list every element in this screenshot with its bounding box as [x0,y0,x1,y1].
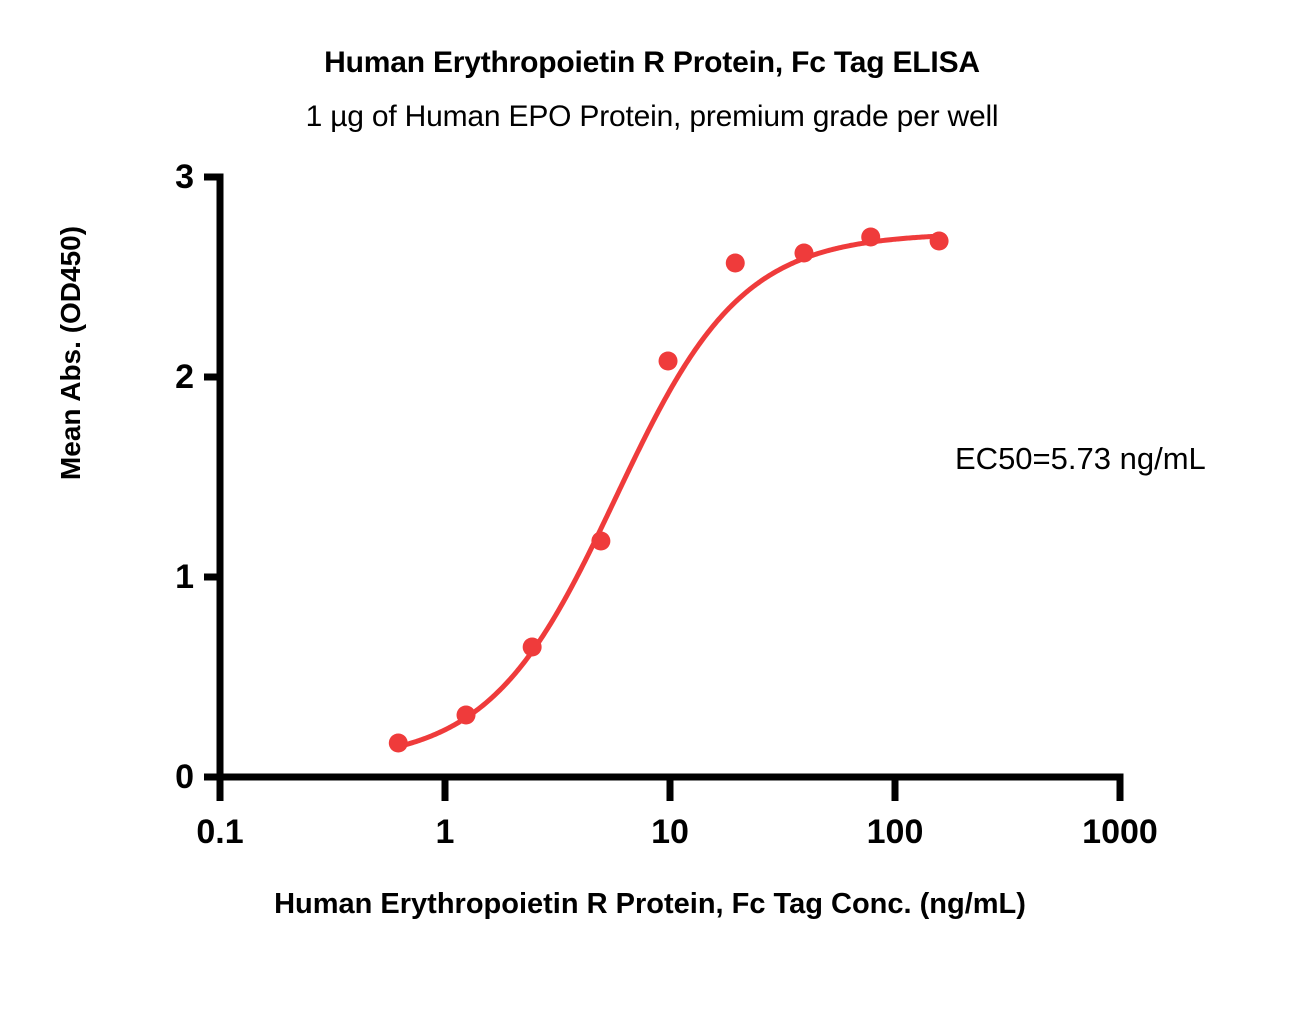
data-point-marker[interactable] [930,232,949,251]
data-point-marker[interactable] [389,734,408,753]
y-tick-label: 3 [134,160,194,194]
x-tick-label: 10 [590,815,750,849]
y-tick-label: 1 [134,560,194,594]
data-point-marker[interactable] [794,244,813,263]
elisa-chart-figure: Human Erythropoietin R Protein, Fc Tag E… [0,0,1304,1032]
y-tick-label: 0 [134,760,194,794]
data-point-marker[interactable] [726,254,745,273]
data-point-marker[interactable] [659,352,678,371]
x-tick-label: 1 [365,815,525,849]
x-tick-label: 0.1 [140,815,300,849]
data-point-marker[interactable] [457,706,476,725]
data-point-marker[interactable] [861,228,880,247]
x-tick-label: 100 [815,815,975,849]
data-point-marker[interactable] [523,638,542,657]
x-tick-label: 1000 [1040,815,1200,849]
y-tick-label: 2 [134,360,194,394]
plot-area [0,0,1304,1032]
data-point-marker[interactable] [591,532,610,551]
fit-curve [398,236,939,747]
